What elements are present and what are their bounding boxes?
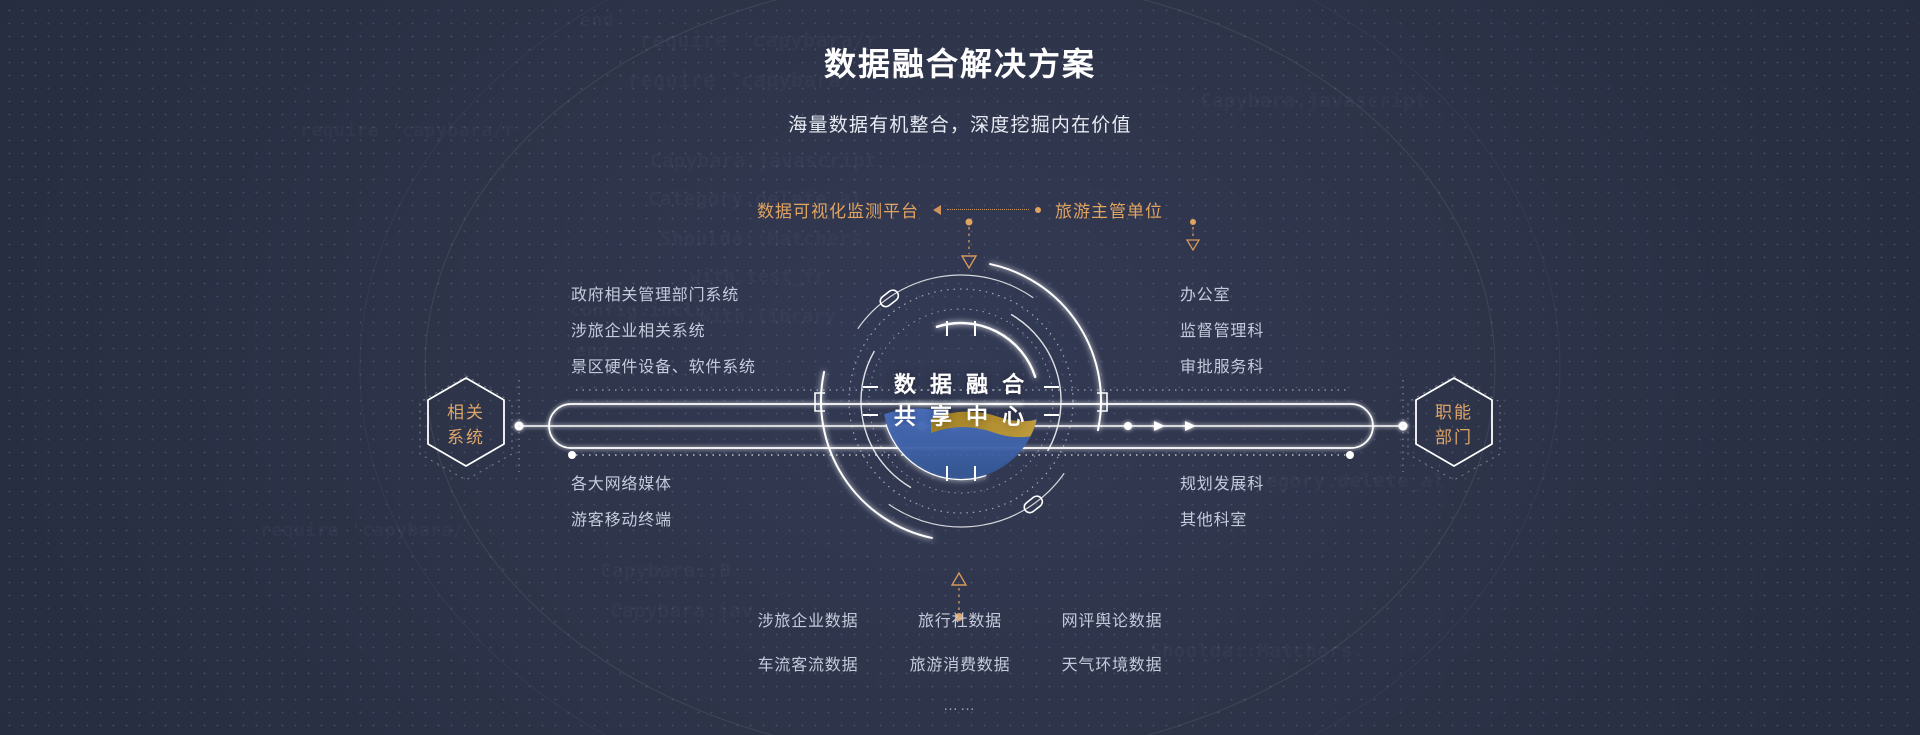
bottom-grid-row-2: 车流客流数据 旅游消费数据 天气环境数据 xyxy=(732,651,1188,675)
side-nubs xyxy=(815,393,1107,411)
left-label-network-media[interactable]: 各大网络媒体 xyxy=(571,470,672,494)
background-code-line: end xyxy=(580,10,614,31)
tourism-authority-label[interactable]: 旅游主管单位 xyxy=(1055,197,1163,222)
functional-departments-badge-text: 职能 部门 xyxy=(1399,364,1509,488)
bottom-grid-row-1: 涉旅企业数据 旅行社数据 网评舆论数据 xyxy=(732,607,1188,631)
top-right-vertical-connector xyxy=(1182,218,1204,254)
right-dotted-line-dot xyxy=(1346,451,1354,459)
background-code-line: Shoulda::Matchers. xyxy=(660,228,875,250)
bottom-cell-tourism-enterprise-data[interactable]: 涉旅企业数据 xyxy=(732,607,884,631)
right-label-other-offices[interactable]: 其他科室 xyxy=(1180,506,1247,530)
bottom-cell-weather-environment-data[interactable]: 天气环境数据 xyxy=(1036,651,1188,675)
related-systems-badge-text: 相关 系统 xyxy=(411,364,521,488)
bottom-cell-traffic-flow-data[interactable]: 车流客流数据 xyxy=(732,651,884,675)
left-label-tourist-mobile-terminal[interactable]: 游客移动终端 xyxy=(571,506,672,530)
bottom-cell-online-review-data[interactable]: 网评舆论数据 xyxy=(1036,607,1188,631)
bottom-cell-tourism-spending-data[interactable]: 旅游消费数据 xyxy=(884,651,1036,675)
badge-line-1: 职能 xyxy=(1435,401,1473,426)
left-label-scenic-hardware-software[interactable]: 景区硬件设备、软件系统 xyxy=(571,353,756,377)
solution-diagram-page: require 'capybara/r require 'capybara/ C… xyxy=(0,0,1920,735)
badge-line-2: 系统 xyxy=(447,426,485,451)
badge-line-2: 部门 xyxy=(1435,426,1473,451)
page-title: 数据融合解决方案 xyxy=(0,39,1920,85)
right-label-planning-dept[interactable]: 规划发展科 xyxy=(1180,470,1264,494)
second-ring xyxy=(858,226,1064,577)
dotted-line xyxy=(947,209,1029,210)
sphere-fill xyxy=(873,408,1053,485)
left-label-government-systems[interactable]: 政府相关管理部门系统 xyxy=(571,281,739,305)
left-label-tourism-enterprise-systems[interactable]: 涉旅企业相关系统 xyxy=(571,317,705,341)
bottom-cell-travel-agency-data[interactable]: 旅行社数据 xyxy=(884,607,1036,631)
right-label-approval-service-dept[interactable]: 审批服务科 xyxy=(1180,353,1264,377)
right-label-supervision-dept[interactable]: 监督管理科 xyxy=(1180,317,1264,341)
data-visualization-platform-label[interactable]: 数据可视化监测平台 xyxy=(757,197,919,222)
bottom-grid-ellipsis: …… xyxy=(943,697,977,714)
top-left-vertical-connector xyxy=(958,218,980,278)
related-systems-badge[interactable]: 相关 系统 xyxy=(411,364,521,488)
right-label-office[interactable]: 办公室 xyxy=(1180,281,1230,305)
dot-icon xyxy=(1035,207,1041,213)
background-code-line: Capybara.javascript xyxy=(1200,90,1427,112)
top-label-row: 数据可视化监测平台 旅游主管单位 xyxy=(0,197,1920,222)
background-code-line: Capybara::D xyxy=(600,560,731,582)
outer-ring xyxy=(795,264,1127,538)
functional-departments-badge[interactable]: 职能 部门 xyxy=(1399,364,1509,488)
background-code-line: Capybara.javascript xyxy=(650,150,877,172)
page-subtitle: 海量数据有机整合，深度挖掘内在价值 xyxy=(0,110,1920,137)
badge-line-1: 相关 xyxy=(447,401,485,426)
top-connector xyxy=(933,203,1041,217)
triangle-left-icon xyxy=(933,205,941,215)
bottom-data-grid: 涉旅企业数据 旅行社数据 网评舆论数据 车流客流数据 旅游消费数据 天气环境数据… xyxy=(0,607,1920,714)
central-emblem: 数 据 融 合 共 享 中 心 xyxy=(813,253,1109,549)
left-dotted-line-dot xyxy=(568,451,576,459)
emblem-rings xyxy=(813,253,1109,549)
background-code-line: require 'capybara/ xyxy=(260,520,464,541)
